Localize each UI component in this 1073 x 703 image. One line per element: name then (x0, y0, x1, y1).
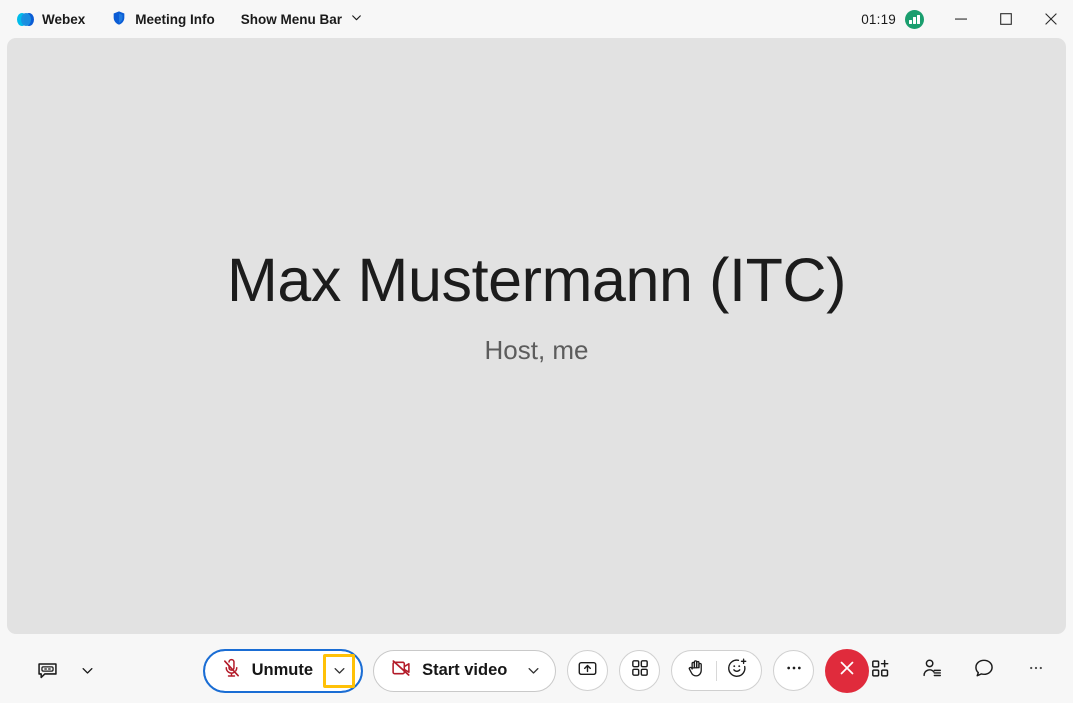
show-menu-bar-button[interactable]: Show Menu Bar (233, 5, 371, 33)
webex-brand-button[interactable]: Webex (9, 5, 93, 33)
more-options-right-button[interactable] (1017, 652, 1055, 690)
participants-icon (921, 657, 943, 684)
unmute-label: Unmute (252, 661, 313, 680)
more-options-center-button[interactable] (773, 650, 814, 691)
add-apps-icon (870, 658, 891, 684)
video-stage[interactable]: Max Mustermann (ITC) Host, me (7, 38, 1066, 634)
camera-muted-icon (390, 657, 412, 684)
start-video-label: Start video (422, 661, 507, 680)
webex-meeting-window: Webex Meeting Info Show Menu Bar 01:19 (0, 0, 1073, 703)
title-bar: Webex Meeting Info Show Menu Bar 01:19 (0, 0, 1073, 38)
reactions-smiley-icon (726, 657, 748, 684)
start-video-button[interactable]: Start video (373, 650, 556, 692)
reactions-group (671, 650, 762, 691)
maximize-icon[interactable] (983, 0, 1028, 38)
chat-bubble-icon (973, 657, 995, 684)
apps-grid-button[interactable] (619, 650, 660, 691)
video-options-chevron-icon[interactable] (517, 654, 549, 688)
unmute-button[interactable]: Unmute (204, 650, 362, 692)
show-menu-bar-label: Show Menu Bar (241, 12, 342, 27)
more-options-icon (784, 658, 804, 683)
meeting-control-bar: Unmute (0, 638, 1073, 703)
microphone-muted-icon (221, 658, 242, 684)
shield-icon (111, 10, 127, 29)
meeting-timer: 01:19 (861, 12, 896, 27)
meeting-info-label: Meeting Info (135, 12, 215, 27)
minimize-icon[interactable] (938, 0, 983, 38)
control-bar-right (861, 638, 1055, 703)
raise-hand-button[interactable] (676, 653, 716, 688)
close-icon[interactable] (1028, 0, 1073, 38)
audio-options-chevron-icon[interactable] (323, 654, 355, 688)
participants-button[interactable] (913, 652, 951, 690)
share-screen-button[interactable] (567, 650, 608, 691)
chevron-down-icon (350, 11, 363, 27)
participant-name: Max Mustermann (ITC) (227, 248, 846, 312)
participant-role: Host, me (484, 335, 588, 366)
chat-button[interactable] (965, 652, 1003, 690)
more-options-icon (1027, 659, 1045, 682)
webex-brand-label: Webex (42, 12, 85, 27)
meeting-info-button[interactable]: Meeting Info (103, 5, 223, 33)
raise-hand-icon (686, 658, 707, 684)
signal-bars-icon[interactable] (905, 10, 924, 29)
audio-options-wrapper (323, 654, 355, 688)
end-call-icon (837, 658, 857, 683)
share-screen-icon (577, 658, 598, 684)
webex-logo-icon (17, 11, 34, 28)
apps-grid-icon (630, 658, 650, 683)
add-apps-button[interactable] (861, 652, 899, 690)
reactions-button[interactable] (717, 653, 757, 688)
